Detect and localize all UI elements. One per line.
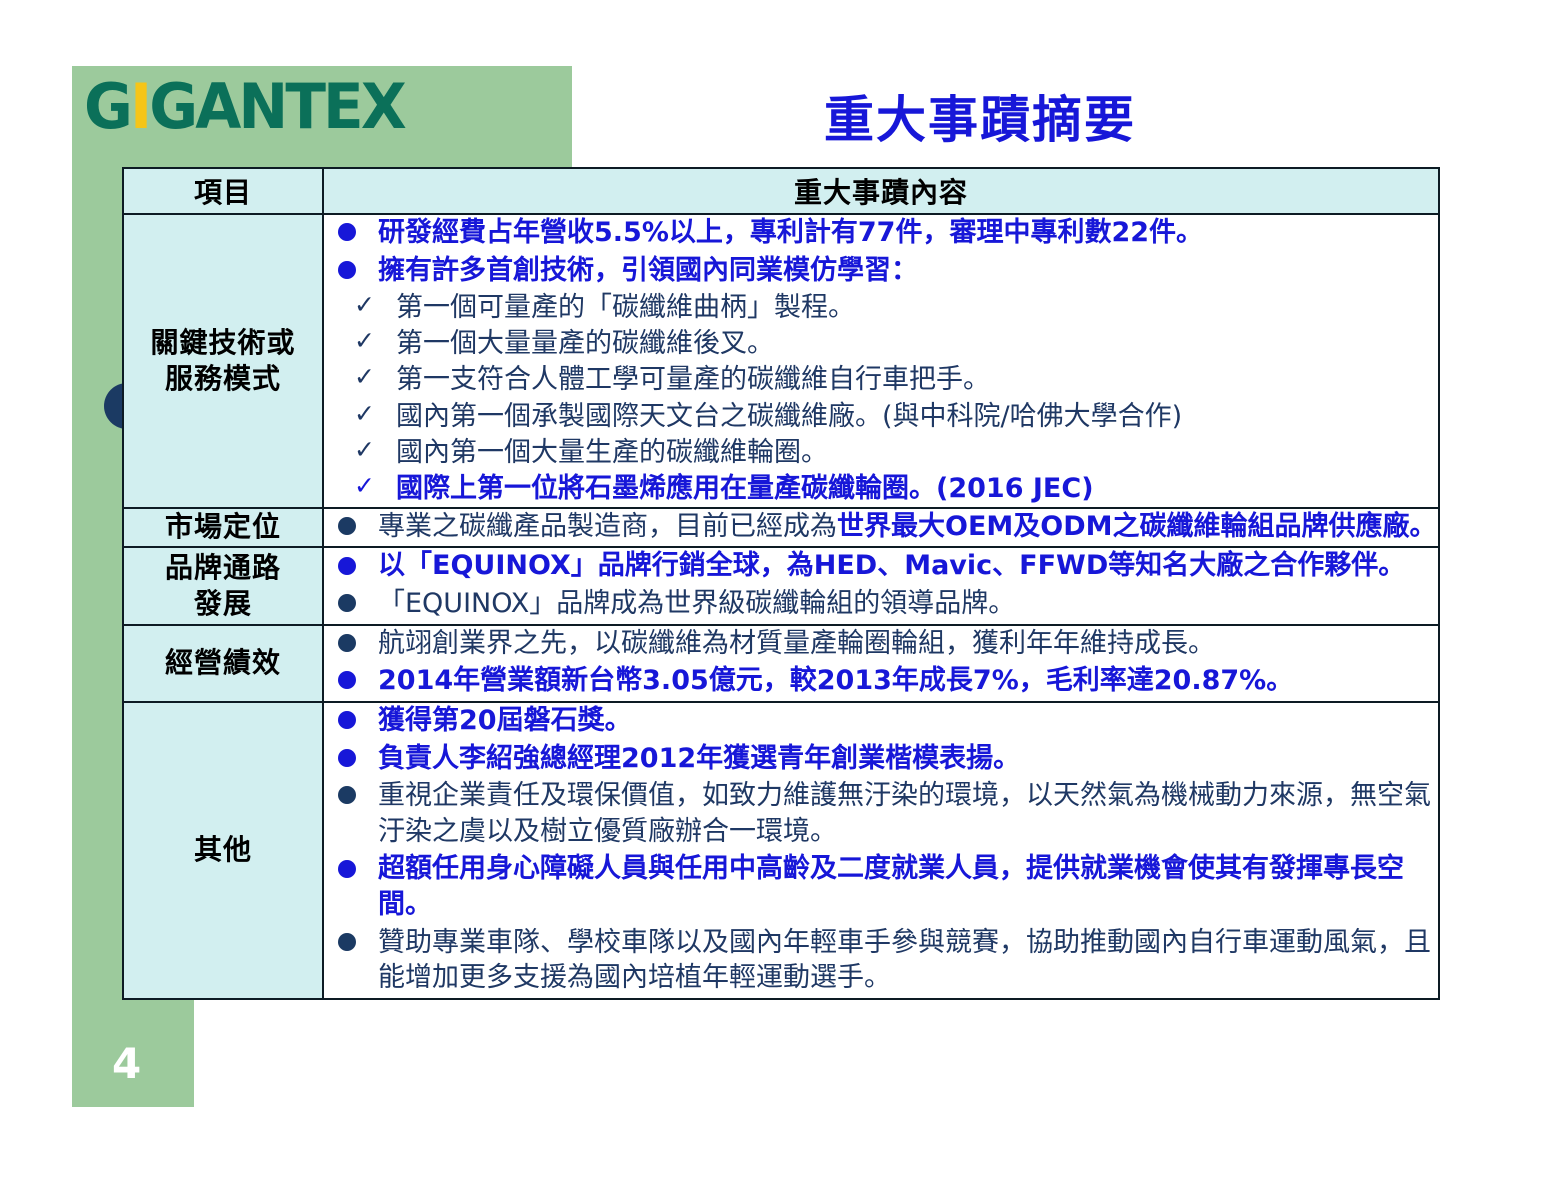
bullet-list: 專業之碳纖產品製造商，目前已經成為世界最大OEM及ODM之碳纖維輪組品牌供應廠。 (324, 509, 1438, 545)
check-text: 國內第一個大量生產的碳纖維輪圈。 (396, 437, 828, 468)
bullet-dot-icon (338, 933, 356, 951)
bullet-dot-icon (338, 860, 356, 878)
bullet-text: 航翊創業界之先，以碳纖維為材質量產輪圈輪組，獲利年年維持成長。 (378, 628, 1215, 659)
bullet-item: 贊助專業車隊、學校車隊以及國內年輕車手參與競賽，協助推動國內自行車運動風氣，且能… (324, 925, 1438, 996)
bullet-text: 贊助專業車隊、學校車隊以及國內年輕車手參與競賽，協助推動國內自行車運動風氣，且能… (378, 927, 1431, 994)
row-content-cell: 航翊創業界之先，以碳纖維為材質量產輪圈輪組，獲利年年維持成長。2014年營業額新… (323, 625, 1439, 702)
check-text: 國際上第一位將石墨烯應用在量產碳纖輪圈。(2016 JEC) (396, 473, 1094, 504)
bullet-text-emphasis: 世界最大OEM及ODM之碳纖維輪組品牌供應廠。 (837, 511, 1437, 542)
logo-text-after: GANTEX (149, 70, 404, 143)
logo-text-before: G (84, 70, 130, 143)
bullet-item: 航翊創業界之先，以碳纖維為材質量產輪圈輪組，獲利年年維持成長。 (324, 626, 1438, 662)
bullet-text: 重視企業責任及環保價值，如致力維護無汙染的環境，以天然氣為機械動力來源，無空氣汙… (378, 780, 1431, 847)
bullet-list: 航翊創業界之先，以碳纖維為材質量產輪圈輪組，獲利年年維持成長。2014年營業額新… (324, 626, 1438, 699)
bullet-dot-icon (338, 594, 356, 612)
bullet-text: 擁有許多首創技術，引領國內同業模仿學習： (378, 255, 918, 286)
bullet-item: 負責人李紹強總經理2012年獲選青年創業楷模表揚。 (324, 741, 1438, 777)
row-item-label: 市場定位 (123, 508, 323, 548)
check-text: 第一個大量量產的碳纖維後叉。 (396, 328, 774, 359)
check-list: ✓第一個可量產的「碳纖維曲柄」製程。✓第一個大量量產的碳纖維後叉。✓第一支符合人… (324, 290, 1438, 506)
check-mark-icon: ✓ (354, 398, 375, 431)
check-item: ✓國內第一個承製國際天文台之碳纖維廠。(與中科院/哈佛大學合作) (324, 399, 1438, 434)
bullet-dot-icon (338, 557, 356, 575)
row-item-label: 關鍵技術或服務模式 (123, 214, 323, 508)
check-mark-icon: ✓ (354, 470, 375, 503)
bullet-text: 獲得第20屆磐石獎。 (378, 705, 632, 736)
major-achievements-table: 項目 重大事蹟內容 關鍵技術或服務模式研發經費占年營收5.5%以上，專利計有77… (122, 167, 1440, 1000)
bullet-dot-icon (338, 711, 356, 729)
row-content-cell: 研發經費占年營收5.5%以上，專利計有77件，審理中專利數22件。擁有許多首創技… (323, 214, 1439, 508)
bullet-dot-icon (338, 749, 356, 767)
table-row: 經營績效航翊創業界之先，以碳纖維為材質量產輪圈輪組，獲利年年維持成長。2014年… (123, 625, 1439, 702)
bullet-dot-icon (338, 261, 356, 279)
bullet-dot-icon (338, 634, 356, 652)
check-mark-icon: ✓ (354, 289, 375, 322)
bullet-item: 獲得第20屆磐石獎。 (324, 703, 1438, 739)
row-content-cell: 專業之碳纖產品製造商，目前已經成為世界最大OEM及ODM之碳纖維輪組品牌供應廠。 (323, 508, 1439, 548)
bullet-item: 重視企業責任及環保價值，如致力維護無汙染的環境，以天然氣為機械動力來源，無空氣汙… (324, 778, 1438, 849)
check-item: ✓第一個可量產的「碳纖維曲柄」製程。 (324, 290, 1438, 325)
check-item: ✓第一個大量量產的碳纖維後叉。 (324, 326, 1438, 361)
bullet-list: 獲得第20屆磐石獎。負責人李紹強總經理2012年獲選青年創業楷模表揚。重視企業責… (324, 703, 1438, 996)
table-row: 市場定位專業之碳纖產品製造商，目前已經成為世界最大OEM及ODM之碳纖維輪組品牌… (123, 508, 1439, 548)
bullet-item: 以「EQUINOX」品牌行銷全球，為HED、Mavic、FFWD等知名大廠之合作… (324, 548, 1438, 584)
page-number: 4 (112, 1043, 141, 1085)
table-header-row: 項目 重大事蹟內容 (123, 168, 1439, 214)
bullet-item: 2014年營業額新台幣3.05億元，較2013年成長7%，毛利率達20.87%。 (324, 663, 1438, 699)
header-item: 項目 (123, 168, 323, 214)
bullet-text: 以「EQUINOX」品牌行銷全球，為HED、Mavic、FFWD等知名大廠之合作… (378, 550, 1405, 581)
check-text: 國內第一個承製國際天文台之碳纖維廠。(與中科院/哈佛大學合作) (396, 401, 1182, 432)
bullet-dot-icon (338, 223, 356, 241)
bullet-text: 「EQUINOX」品牌成為世界級碳纖輪組的領導品牌。 (378, 588, 1015, 619)
check-item: ✓第一支符合人體工學可量產的碳纖維自行車把手。 (324, 362, 1438, 397)
bullet-item: 專業之碳纖產品製造商，目前已經成為世界最大OEM及ODM之碳纖維輪組品牌供應廠。 (324, 509, 1438, 545)
header-content: 重大事蹟內容 (323, 168, 1439, 214)
check-item: ✓國際上第一位將石墨烯應用在量產碳纖輪圈。(2016 JEC) (324, 471, 1438, 506)
bullet-list: 以「EQUINOX」品牌行銷全球，為HED、Mavic、FFWD等知名大廠之合作… (324, 548, 1438, 621)
row-item-label: 其他 (123, 702, 323, 999)
bullet-item: 「EQUINOX」品牌成為世界級碳纖輪組的領導品牌。 (324, 586, 1438, 622)
row-item-label: 品牌通路發展 (123, 547, 323, 624)
bullet-dot-icon (338, 671, 356, 689)
bullet-dot-icon (338, 786, 356, 804)
bullet-item: 擁有許多首創技術，引領國內同業模仿學習： (324, 253, 1438, 289)
table-row: 關鍵技術或服務模式研發經費占年營收5.5%以上，專利計有77件，審理中專利數22… (123, 214, 1439, 508)
row-item-label: 經營績效 (123, 625, 323, 702)
page-title: 重大事蹟摘要 (600, 80, 1360, 152)
table-row: 其他獲得第20屆磐石獎。負責人李紹強總經理2012年獲選青年創業楷模表揚。重視企… (123, 702, 1439, 999)
logo-text-i: I (130, 70, 149, 143)
check-mark-icon: ✓ (354, 325, 375, 358)
bullet-text: 研發經費占年營收5.5%以上，專利計有77件，審理中專利數22件。 (378, 217, 1203, 248)
bullet-item: 超額任用身心障礙人員與任用中高齡及二度就業人員，提供就業機會使其有發揮專長空間。 (324, 851, 1438, 922)
bullet-text: 2014年營業額新台幣3.05億元，較2013年成長7%，毛利率達20.87%。 (378, 665, 1293, 696)
bullet-text: 負責人李紹強總經理2012年獲選青年創業楷模表揚。 (378, 743, 1020, 774)
check-mark-icon: ✓ (354, 361, 375, 394)
check-mark-icon: ✓ (354, 434, 375, 467)
gigantex-logo: GIGANTEX (84, 76, 404, 138)
check-item: ✓國內第一個大量生產的碳纖維輪圈。 (324, 435, 1438, 470)
bullet-text: 專業之碳纖產品製造商，目前已經成為 (378, 511, 837, 542)
row-content-cell: 以「EQUINOX」品牌行銷全球，為HED、Mavic、FFWD等知名大廠之合作… (323, 547, 1439, 624)
bullet-list: 研發經費占年營收5.5%以上，專利計有77件，審理中專利數22件。擁有許多首創技… (324, 215, 1438, 288)
check-text: 第一個可量產的「碳纖維曲柄」製程。 (396, 292, 855, 323)
table-row: 品牌通路發展以「EQUINOX」品牌行銷全球，為HED、Mavic、FFWD等知… (123, 547, 1439, 624)
bullet-text: 超額任用身心障礙人員與任用中高齡及二度就業人員，提供就業機會使其有發揮專長空間。 (378, 853, 1404, 920)
bullet-item: 研發經費占年營收5.5%以上，專利計有77件，審理中專利數22件。 (324, 215, 1438, 251)
check-text: 第一支符合人體工學可量產的碳纖維自行車把手。 (396, 364, 990, 395)
row-content-cell: 獲得第20屆磐石獎。負責人李紹強總經理2012年獲選青年創業楷模表揚。重視企業責… (323, 702, 1439, 999)
bullet-dot-icon (338, 517, 356, 535)
